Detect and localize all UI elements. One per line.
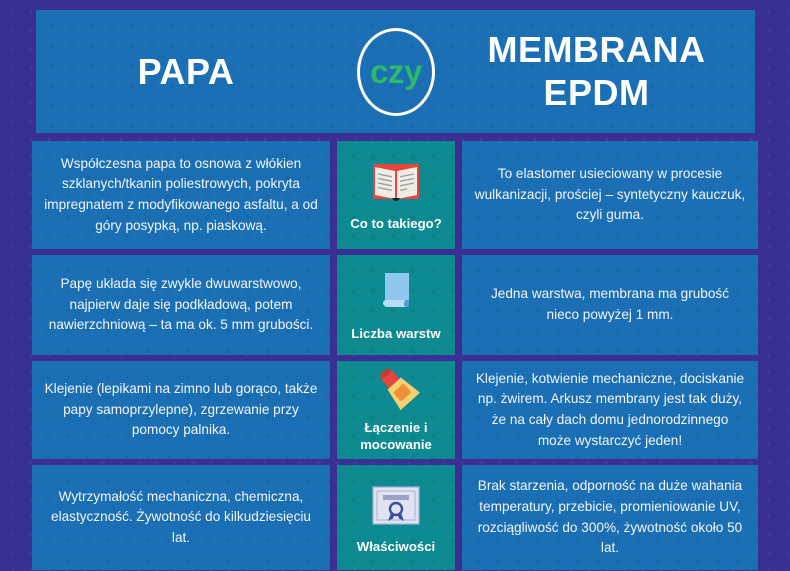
category-label-text: Łączenie i mocowanie [360,420,432,452]
epdm-cell: Jedna warstwa, membrana ma grubość nieco… [462,255,758,355]
category-cell: Co to takiego? [337,141,455,249]
epdm-cell: Brak starzenia, odporność na duże wahani… [462,465,758,570]
comparison-row: Papę układa się zwykle dwuwarstwowo, naj… [0,255,790,355]
comparison-row: Współczesna papa to osnowa z włókien szk… [0,141,790,249]
infographic-comparison-papa-vs-epdm: PAPA czy MEMBRANA EPDM Współczesna papa … [0,0,790,571]
papa-cell: Klejenie (lepikami na zimno lub gorąco, … [32,361,330,459]
comparison-row: Klejenie (lepikami na zimno lub gorąco, … [0,361,790,459]
curled-sheet-icon [375,267,417,319]
category-cell: Liczba warstw [337,255,455,355]
header-title-left: PAPA [36,51,336,93]
header-versus-badge: czy [336,28,456,116]
category-cell: Łączenie i mocowanie [337,361,455,459]
category-label: Co to takiego? [350,216,442,233]
certificate-icon [371,480,421,532]
category-label: Właściwości [357,539,435,556]
header-title-right: MEMBRANA EPDM [456,29,755,114]
glue-bottle-icon [372,367,420,413]
category-label: Liczba warstw [351,326,440,343]
papa-cell: Wytrzymałość mechaniczna, chemiczna, ela… [32,465,330,570]
czy-circle-text: czy [357,28,435,116]
category-cell: Właściwości [337,465,455,570]
header-title-right-line1: MEMBRANA [456,29,737,71]
comparison-rows: Współczesna papa to osnowa z włókien szk… [0,141,790,571]
category-label: Łączenie i mocowanie [341,420,451,453]
papa-cell: Współczesna papa to osnowa z włókien szk… [32,141,330,249]
comparison-row: Wytrzymałość mechaniczna, chemiczna, ela… [0,465,790,570]
open-book-icon [371,157,421,209]
header-banner: PAPA czy MEMBRANA EPDM [36,10,755,133]
epdm-cell: Klejenie, kotwienie mechaniczne, dociska… [462,361,758,459]
header-title-right-line2: EPDM [456,72,737,114]
papa-cell: Papę układa się zwykle dwuwarstwowo, naj… [32,255,330,355]
epdm-cell: To elastomer usieciowany w procesie wulk… [462,141,758,249]
